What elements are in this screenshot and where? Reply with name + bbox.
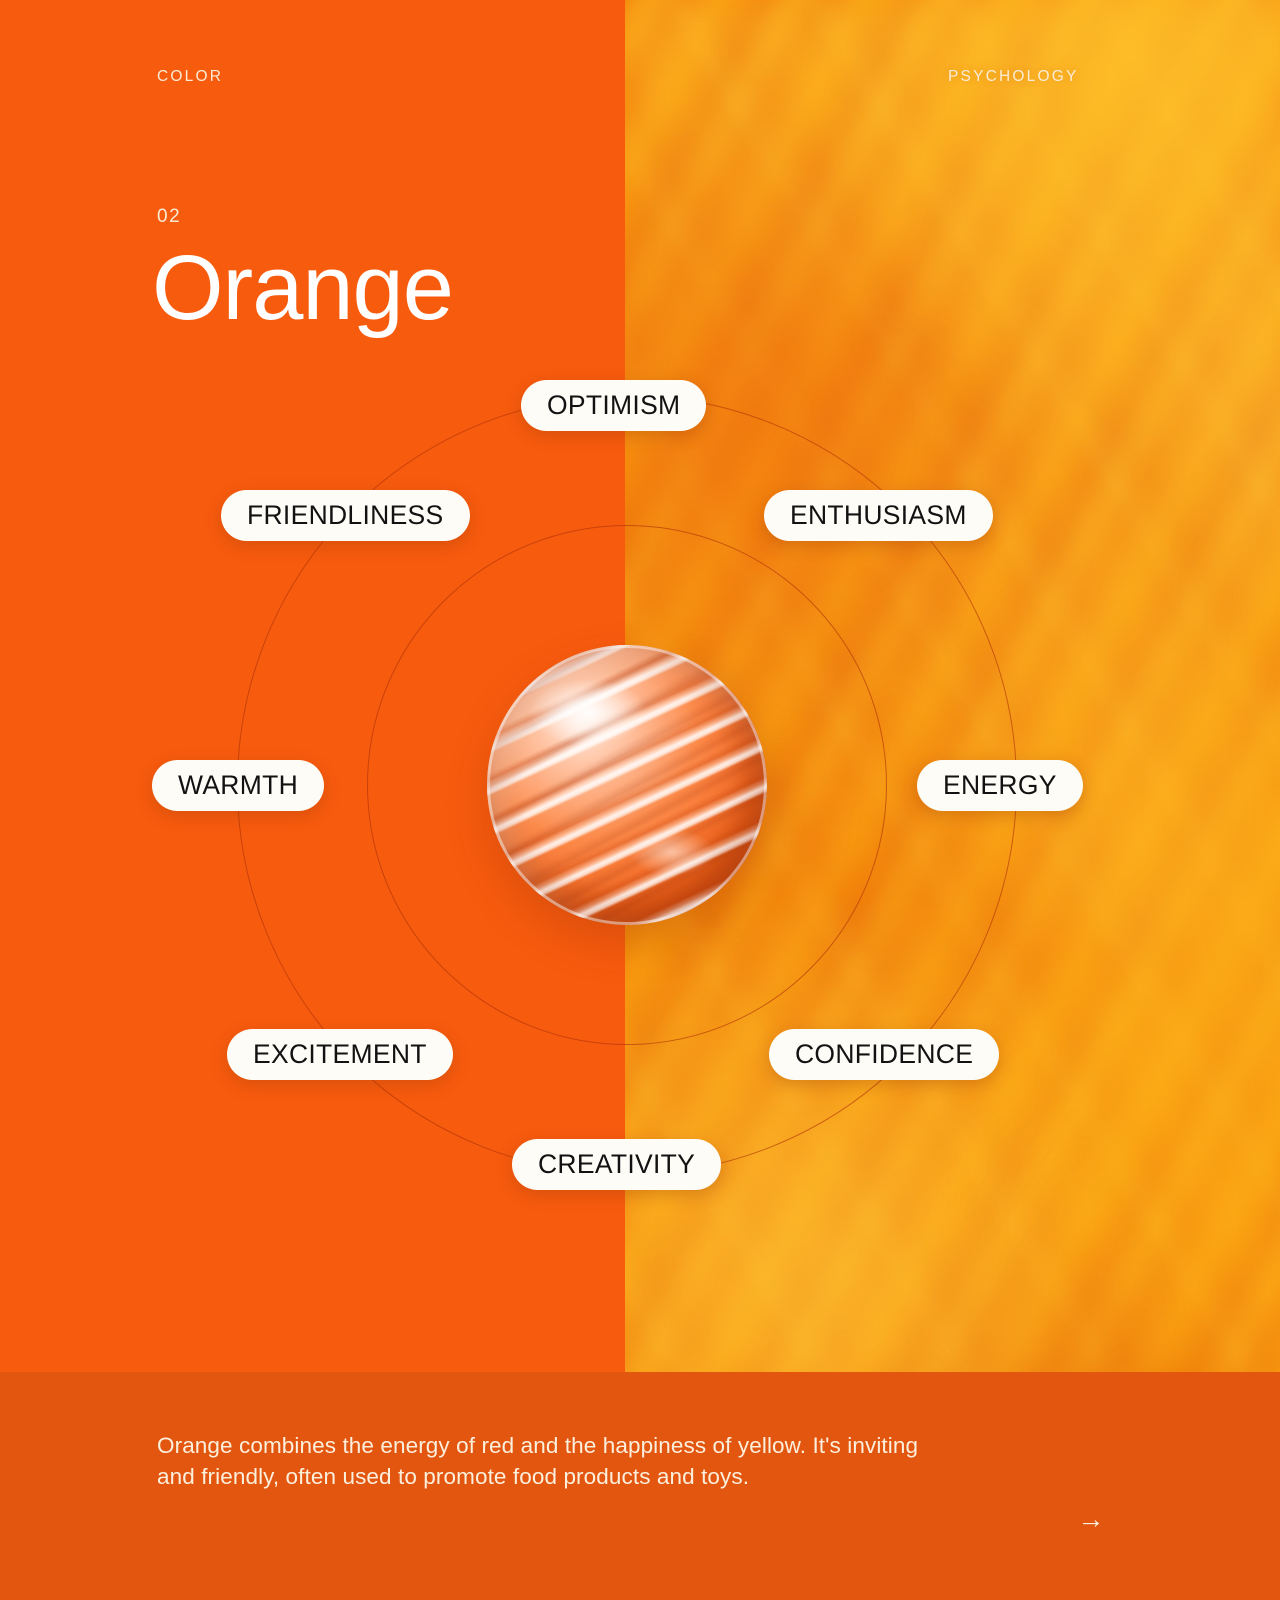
next-arrow-icon[interactable]: → [1070,1498,1112,1540]
keyword-pill-enthusiasm[interactable]: ENTHUSIASM [764,490,993,541]
page-title: Orange [152,240,453,336]
center-sphere [487,645,767,925]
eyebrow-label-psychology: PSYCHOLOGY [948,68,1079,86]
keyword-pill-optimism[interactable]: OPTIMISM [521,380,706,431]
sphere-icon [487,645,767,925]
keyword-pill-confidence[interactable]: CONFIDENCE [769,1029,999,1080]
keyword-pill-creativity[interactable]: CREATIVITY [512,1139,721,1190]
keyword-pill-friendliness[interactable]: FRIENDLINESS [221,490,470,541]
footer-description: Orange combines the energy of red and th… [157,1430,957,1492]
section-number: 02 [157,206,181,228]
keyword-pill-excitement[interactable]: EXCITEMENT [227,1029,453,1080]
slide-root: COLOR PSYCHOLOGY 02 Orange OPTIMISM FRIE… [0,0,1280,1600]
sphere-rim [487,645,767,925]
keyword-pill-energy[interactable]: ENERGY [917,760,1083,811]
eyebrow-label-color: COLOR [157,68,223,86]
keyword-pill-warmth[interactable]: WARMTH [152,760,324,811]
